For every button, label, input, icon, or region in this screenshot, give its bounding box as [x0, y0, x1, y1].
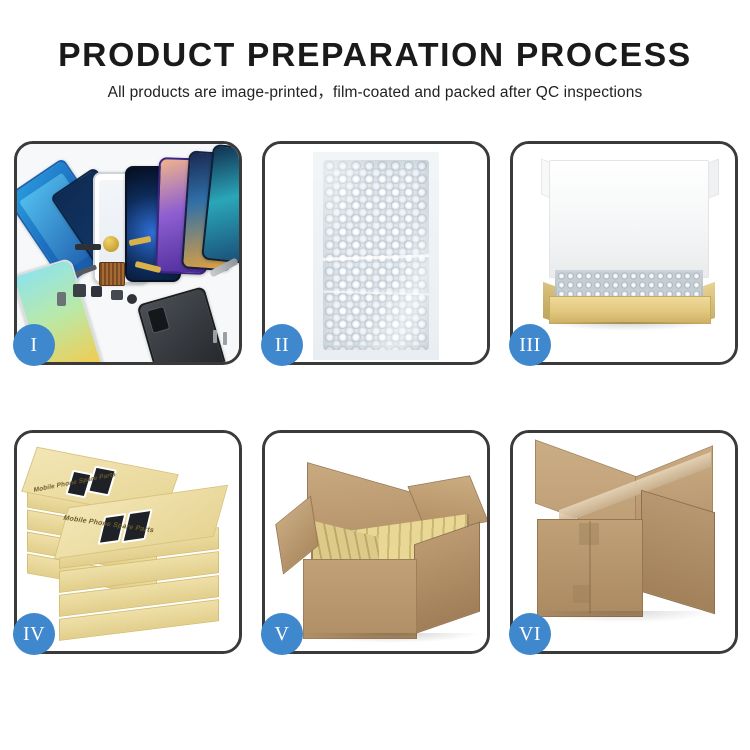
vibration-motor-icon — [103, 236, 119, 252]
camera-module-icon — [73, 284, 86, 297]
step-badge-2: II — [261, 324, 303, 366]
logic-board-chip-icon — [99, 262, 125, 286]
page-title: PRODUCT PREPARATION PROCESS — [0, 0, 750, 74]
box-front-kraft-icon — [549, 296, 711, 324]
carton-drop-shadow — [301, 633, 481, 643]
step-panel-3: III — [510, 141, 738, 365]
screw-2-icon — [223, 332, 227, 345]
step-panel-6: VI — [510, 430, 738, 654]
carton-front-face — [303, 559, 417, 639]
carton-flap-shadow-2 — [573, 585, 591, 603]
step-image-2 — [265, 144, 487, 362]
connector-icon — [91, 286, 102, 297]
step-image-1 — [17, 144, 239, 362]
step-badge-1: I — [13, 324, 55, 366]
boxed-bubble-wrap-icon — [557, 272, 701, 298]
process-steps-grid: I II — [14, 141, 738, 678]
battery-connector-icon — [111, 290, 123, 300]
step-badge-5: V — [261, 613, 303, 655]
page-subtitle: All products are image-printed，film-coat… — [0, 74, 750, 103]
step-image-6 — [513, 433, 735, 651]
wrap-gloss-highlight — [323, 160, 429, 350]
step-badge-3: III — [509, 324, 551, 366]
step-image-5 — [265, 433, 487, 651]
step-badge-6: VI — [509, 613, 551, 655]
header: PRODUCT PREPARATION PROCESS All products… — [0, 0, 750, 103]
screw-icon — [213, 330, 217, 343]
step-panel-2: II — [262, 141, 490, 365]
step-badge-4: IV — [13, 613, 55, 655]
box-lid-white-icon — [549, 160, 709, 278]
step-panel-1: I — [14, 141, 242, 365]
earpiece-speaker-icon — [75, 244, 101, 250]
step-panel-4: Mobile Phone Spare Parts Mobile Phone Sp… — [14, 430, 242, 654]
sealed-carton-drop-shadow — [533, 611, 717, 623]
step-image-3 — [513, 144, 735, 362]
product-preparation-process-page: PRODUCT PREPARATION PROCESS All products… — [0, 0, 750, 750]
phone-back-cover-icon — [137, 286, 228, 362]
step-image-4: Mobile Phone Spare Parts Mobile Phone Sp… — [17, 433, 239, 651]
sim-tray-icon — [57, 292, 66, 306]
step-panel-5: V — [262, 430, 490, 654]
sealed-carton-right-face — [641, 490, 715, 615]
home-button-icon — [127, 294, 137, 304]
box-drop-shadow — [547, 322, 709, 331]
carton-flap-shadow-1 — [579, 523, 599, 545]
